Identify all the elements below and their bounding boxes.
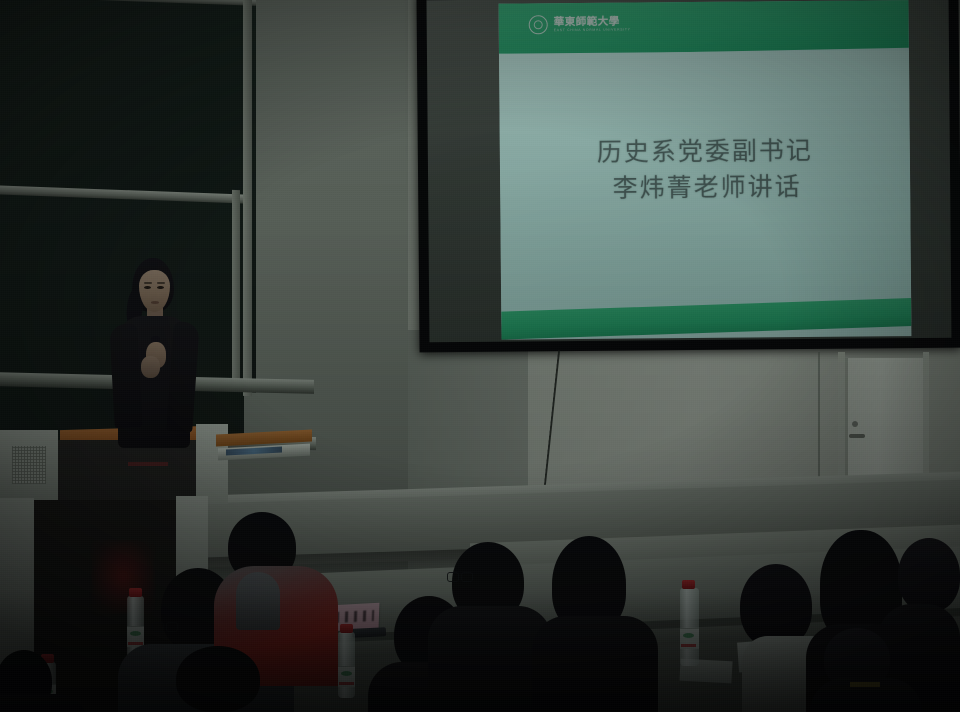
hood <box>236 572 280 630</box>
presenter-eye-left <box>144 286 151 289</box>
lectern-emblem <box>92 540 154 614</box>
lectern-indicator-strip <box>128 462 168 466</box>
presenter-brow-right <box>157 282 165 284</box>
door-handle[interactable] <box>849 434 865 438</box>
university-logo: 華東師範大學 EAST CHINA NORMAL UNIVERSITY <box>529 15 631 35</box>
blackboard-edge-right-lower <box>232 190 240 390</box>
presenter <box>100 258 210 458</box>
lectern-speaker-grille <box>12 446 46 484</box>
presenter-hand-lower <box>141 356 160 378</box>
slide-title-line-1: 历史系党委副书记 <box>500 132 910 172</box>
eyeglasses-icon <box>447 572 473 580</box>
jacket-trim <box>850 682 880 687</box>
water-bottle <box>680 588 699 666</box>
projection-screen: 華東師範大學 EAST CHINA NORMAL UNIVERSITY 历史系党… <box>416 0 960 352</box>
student-head <box>176 646 260 712</box>
mobile-phone[interactable] <box>352 627 386 638</box>
screen-surface: 華東師範大學 EAST CHINA NORMAL UNIVERSITY 历史系党… <box>427 0 952 342</box>
presentation-slide: 華東師範大學 EAST CHINA NORMAL UNIVERSITY 历史系党… <box>499 0 912 340</box>
lecture-hall-photo: A woman speaking at a lectern in a dimly… <box>0 0 960 712</box>
eyeglasses-icon <box>152 622 178 630</box>
door-lock-icon <box>852 421 858 427</box>
presenter-eye-right <box>157 286 164 289</box>
presenter-brow-left <box>144 282 152 284</box>
slide-title-line-2: 李炜菁老师讲话 <box>500 168 910 208</box>
student-torso <box>532 616 658 712</box>
eyeglasses-icon <box>900 568 926 576</box>
slide-title: 历史系党委副书记 李炜菁老师讲话 <box>500 132 911 208</box>
university-name-en: EAST CHINA NORMAL UNIVERSITY <box>554 29 631 33</box>
presenter-arm-left <box>109 323 142 428</box>
university-name-cn: 華東師範大學 <box>554 16 631 27</box>
university-seal-icon <box>529 15 548 34</box>
presenter-mouth <box>151 301 159 304</box>
water-bottle <box>338 632 355 698</box>
pink-sign-handwriting <box>336 610 374 623</box>
blackboard-edge-right <box>243 0 252 396</box>
